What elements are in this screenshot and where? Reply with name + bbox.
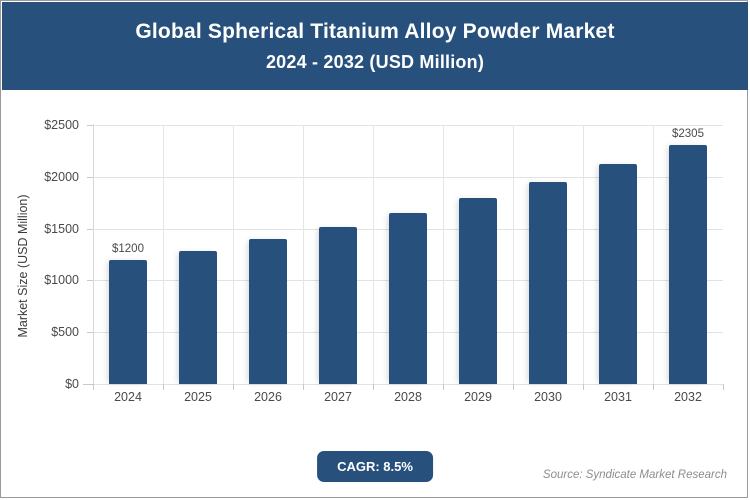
bar[interactable] — [599, 164, 638, 384]
bar[interactable] — [459, 198, 498, 384]
bar[interactable]: $2305 — [669, 145, 708, 384]
bar-value-label: $2305 — [672, 128, 704, 140]
y-axis-tick-label: $2500 — [44, 118, 79, 132]
x-axis-tick-label: 2025 — [184, 390, 212, 404]
y-axis-tick-label: $0 — [65, 377, 79, 391]
page-subtitle: 2024 - 2032 (USD Million) — [266, 52, 484, 73]
bar[interactable] — [319, 227, 358, 384]
bar[interactable] — [179, 251, 218, 384]
gridline-vertical — [303, 125, 304, 384]
bar-column[interactable]: $1200 — [109, 125, 148, 384]
bar[interactable] — [249, 239, 288, 384]
x-axis-tick-mark — [653, 384, 654, 390]
bar[interactable] — [529, 182, 568, 384]
bar[interactable]: $1200 — [109, 260, 148, 384]
bar-column[interactable] — [319, 125, 358, 384]
gridline-vertical — [373, 125, 374, 384]
gridline-vertical — [443, 125, 444, 384]
bar-column[interactable] — [389, 125, 428, 384]
x-axis-tick-labels: 202420252026202720282029203020312032 — [93, 390, 723, 412]
x-axis-tick-label: 2026 — [254, 390, 282, 404]
bar-column[interactable] — [529, 125, 568, 384]
x-axis-tick-mark — [443, 384, 444, 390]
x-axis-tick-label: 2029 — [464, 390, 492, 404]
x-axis-tick-mark — [513, 384, 514, 390]
bar[interactable] — [389, 213, 428, 384]
gridline-vertical — [163, 125, 164, 384]
gridline-vertical — [583, 125, 584, 384]
y-axis-tick-label: $2000 — [44, 170, 79, 184]
bar-column[interactable] — [599, 125, 638, 384]
y-axis-tick-label: $1000 — [44, 273, 79, 287]
x-axis-tick-label: 2027 — [324, 390, 352, 404]
x-axis-tick-mark — [303, 384, 304, 390]
x-axis-tick-label: 2031 — [604, 390, 632, 404]
x-axis-tick-mark — [723, 384, 724, 390]
bar-column[interactable]: $2305 — [669, 125, 708, 384]
plot-area: $1200$2305 — [93, 125, 723, 384]
x-axis-tick-mark — [163, 384, 164, 390]
bar-column[interactable] — [459, 125, 498, 384]
cagr-badge: CAGR: 8.5% — [317, 451, 433, 482]
x-axis-tick-mark — [93, 384, 94, 390]
x-axis-tick-mark — [373, 384, 374, 390]
source-note: Source: Syndicate Market Research — [543, 469, 727, 481]
bar-column[interactable] — [179, 125, 218, 384]
y-axis-tick-label: $1500 — [44, 222, 79, 236]
x-axis-tick-label: 2028 — [394, 390, 422, 404]
x-axis-tick-mark — [233, 384, 234, 390]
x-axis-tick-mark — [583, 384, 584, 390]
y-axis-tick-labels: $0$500$1000$1500$2000$2500 — [1, 125, 87, 384]
gridline-vertical — [653, 125, 654, 384]
chart-body: Market Size (USD Million) $0$500$1000$15… — [1, 91, 749, 497]
bar-value-label: $1200 — [112, 243, 144, 255]
gridline-vertical — [513, 125, 514, 384]
page-title: Global Spherical Titanium Alloy Powder M… — [135, 20, 614, 44]
gridline-horizontal — [93, 384, 723, 385]
gridline-vertical — [233, 125, 234, 384]
x-axis-tick-label: 2030 — [534, 390, 562, 404]
x-axis-tick-label: 2032 — [674, 390, 702, 404]
chart-header: Global Spherical Titanium Alloy Powder M… — [2, 2, 748, 90]
x-axis-tick-label: 2024 — [114, 390, 142, 404]
y-axis-line — [93, 124, 94, 384]
y-axis-tick-label: $500 — [51, 325, 79, 339]
chart-figure: Global Spherical Titanium Alloy Powder M… — [0, 0, 748, 498]
bar-column[interactable] — [249, 125, 288, 384]
